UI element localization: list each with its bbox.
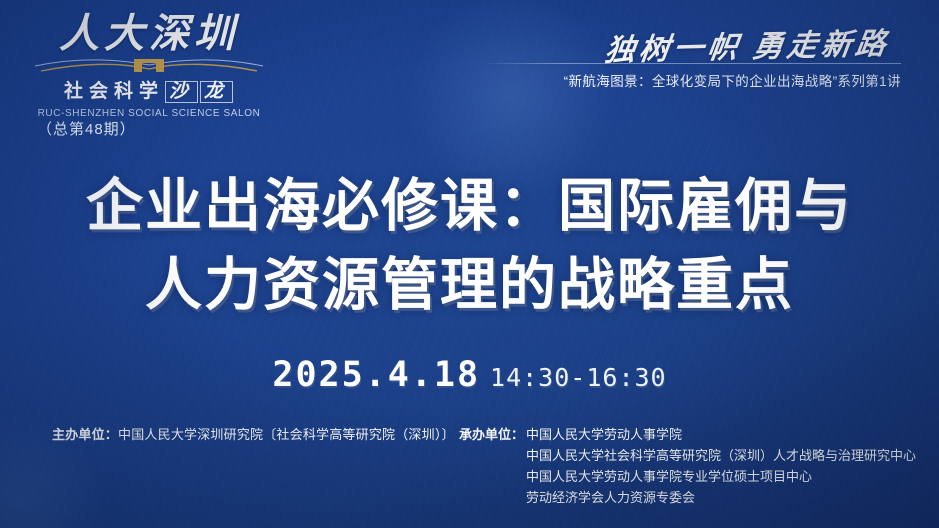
coorganizer-item: 中国人民大学劳动人事学院专业学位硕士项目中心 (526, 466, 916, 487)
logo-salon-boxed-1: 沙 (165, 81, 198, 103)
series-label: “新航海图景：全球化变局下的企业出海战略”系列第1讲 (564, 70, 901, 90)
footer-organizers: 主办单位：中国人民大学深圳研究院〔社会科学高等研究院（深圳）〕 承办单位： 中国… (52, 424, 909, 519)
salon-logo: 人大深圳 社会科学沙龙 RUC-SHENZHEN SOCIAL SCIENCE … (33, 14, 265, 106)
title-line-2: 人力资源管理的战略重点 (0, 247, 939, 326)
host-value: 中国人民大学深圳研究院〔社会科学高等研究院（深圳）〕 (118, 427, 455, 442)
host-organization: 主办单位：中国人民大学深圳研究院〔社会科学高等研究院（深圳）〕 (52, 424, 455, 443)
logo-brand-cn: 人大深圳 (33, 14, 265, 54)
coorganizer-label: 承办单位： (459, 424, 524, 443)
coorganizer-list: 中国人民大学劳动人事学院 中国人民大学社会科学高等研究院（深圳）人才战略与治理研… (526, 424, 916, 508)
title-line-1: 企业出海必修课：国际雇佣与 (0, 168, 939, 247)
logo-salon-boxed-2: 龙 (200, 81, 233, 103)
coorganizer-item: 中国人民大学社会科学高等研究院（深圳）人才战略与治理研究中心 (526, 445, 916, 466)
series-divider (483, 63, 901, 64)
coorganizer-item: 劳动经济学会人力资源专委会 (526, 487, 916, 508)
calligraphy-slogan: 独树一帜 勇走新路 (602, 19, 892, 70)
event-poster: 人大深圳 社会科学沙龙 RUC-SHENZHEN SOCIAL SCIENCE … (0, 0, 939, 528)
event-schedule: 2025.4.1814:30-16:30 (0, 355, 939, 395)
event-date: 2025.4.18 (272, 355, 480, 395)
issue-number: （总第48期） (37, 118, 136, 139)
logo-salon-text: 社会科学沙龙 (33, 76, 265, 103)
bridge-icon (33, 56, 265, 75)
page-title: 企业出海必修课：国际雇佣与 人力资源管理的战略重点 (0, 168, 939, 325)
coorganizer-block: 承办单位： 中国人民大学劳动人事学院 中国人民大学社会科学高等研究院（深圳）人才… (459, 424, 916, 508)
event-time: 14:30-16:30 (490, 363, 667, 392)
logo-salon-prefix: 社会科学 (64, 81, 164, 102)
coorganizer-item: 中国人民大学劳动人事学院 (526, 424, 916, 445)
host-label: 主办单位： (52, 427, 118, 442)
